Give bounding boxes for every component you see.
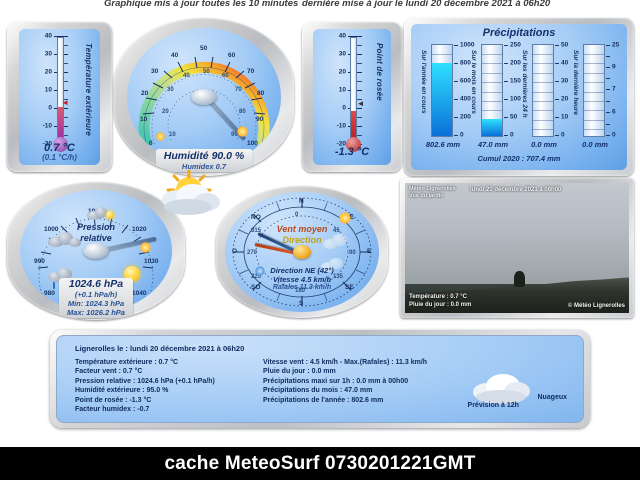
precipitation-face: Précipitations Sur l'année en cours 1000…: [411, 24, 627, 170]
temp-tick-label: 40: [45, 33, 52, 40]
last-update-text: dernière mise à jour le lundi 20 décembr…: [302, 0, 550, 9]
humidity-outer-tick: 30: [151, 68, 158, 75]
humidity-inner-tick: 20: [162, 109, 169, 115]
humidity-outer-tick: 10: [140, 116, 147, 123]
webcam-station-name: Météo Lignerolles: [409, 186, 456, 192]
temp-tick-label: 10: [45, 87, 52, 94]
humidity-gauge-panel[interactable]: 0 10 20 30 40 50 60 70 80 90 100 10 20 3…: [114, 18, 294, 176]
dew-tick-label: 0: [342, 105, 346, 112]
pressure-readout: 1024.6 hPa (+0.1 hPa/h) Min: 1024.3 hPa …: [59, 278, 133, 318]
precip-tick-label: 9: [612, 64, 616, 71]
precip-bar-value: 0.0 mm: [573, 140, 617, 149]
dewpoint-gauge-title: Point de rosée: [375, 43, 384, 101]
precip-tick-label: 10: [561, 114, 568, 121]
temperature-gauge-title: Température extérieure: [84, 43, 93, 136]
precip-fill: [482, 119, 502, 136]
thermometer-mercury: [58, 107, 63, 140]
forecast-label: Prévision à 12h: [468, 402, 519, 409]
webcam-rain-overlay: Pluie du jour : 0.0 mm: [409, 302, 471, 308]
precip-tick-label: 40: [561, 60, 568, 67]
temp-tick-label: 30: [45, 51, 52, 58]
precip-bar-label: Sur les dernières 24 h: [521, 50, 528, 118]
precip-tick-label: 25: [612, 42, 619, 49]
precip-bar-label: Sur la dernière heure: [572, 50, 579, 115]
webcam-view-name: Vue du jardin: [409, 193, 444, 199]
summary-line: Précipitations maxi sur 1h : 0.0 mm à 00…: [263, 377, 427, 386]
humidity-inner-tick: 50: [203, 69, 210, 75]
precip-fill: [432, 63, 452, 136]
summary-line: Facteur vent : 0.7 °C: [75, 367, 215, 376]
footer-brand: MeteoSurf: [225, 453, 320, 474]
precip-bar-value: 0.0 mm: [522, 140, 566, 149]
thermometer-tube: [57, 37, 64, 141]
wind-speed-value: Vitesse 4.5 km/h: [225, 275, 379, 284]
footer-code: 0730201221GMT: [325, 453, 475, 474]
wind-compass: N NE E SE S SO O NO 0 45 90 135 180 225 …: [225, 192, 379, 312]
summary-line: Pluie du jour : 0.0 mm: [263, 367, 427, 376]
humidity-value: Humidité 90.0 %: [164, 150, 245, 162]
precip-tick-label: 50: [561, 42, 568, 49]
precip-tick-label: 7: [612, 86, 616, 93]
summary-line: Humidité extérieure : 95.0 %: [75, 386, 215, 395]
humidity-gauge-face: 0 10 20 30 40 50 60 70 80 90 100 10 20 3…: [127, 28, 281, 166]
compass-label-s: S: [299, 300, 303, 307]
forecast-value: Nuageux: [537, 394, 567, 401]
precip-tube: [481, 44, 503, 137]
humidity-outer-tick: 40: [171, 52, 178, 59]
humidity-inner-tick: 60: [222, 73, 229, 79]
webcam-image[interactable]: Météo Lignerolles Vue du jardin lundi 20…: [405, 183, 629, 313]
dewpoint-gauge-panel[interactable]: Point de rosée 40 30 20 10 0 -10 -20: [302, 22, 402, 172]
precip-tick-label: 200: [460, 114, 471, 121]
thermometer-dewpoint: Point de rosée 40 30 20 10 0 -10 -20: [313, 29, 391, 165]
wind-direction-value: Direction NE (42°): [225, 266, 379, 275]
header-status: Graphique mis à jour toutes les 10 minut…: [0, 0, 640, 12]
precipitation-title: Précipitations: [411, 27, 627, 39]
precip-bar-label: Sur le mois en cours: [470, 50, 477, 114]
webcam-copyright: © Météo Lignerolles: [568, 303, 625, 309]
compass-label-no: NO: [251, 214, 261, 221]
precip-ticks: 50 40 30 20 10 0: [555, 44, 585, 137]
precip-ticks: 1000 800 600 400 200 0: [454, 44, 484, 137]
pressure-max: Max: 1026.2 hPa: [67, 308, 125, 317]
humidity-inner-tick: 10: [169, 132, 176, 138]
webcam-temp-overlay: Température : 0.7 °C: [409, 294, 467, 300]
dewpoint-mercury: [351, 111, 356, 140]
footer-text: cache MeteoSurf 0730201221GMT: [0, 447, 640, 480]
summary-line: Point de rosée : -1.3 °C: [75, 396, 215, 405]
summary-line: Précipitations de l'année : 802.6 mm: [263, 396, 427, 405]
wind-needle-hub: [293, 245, 311, 259]
dew-tick-label: 10: [339, 87, 346, 94]
wind-gauge-face: N NE E SE S SO O NO 0 45 90 135 180 225 …: [225, 192, 379, 312]
current-condition-icon: [155, 170, 223, 218]
humidity-outer-tick: 0: [149, 140, 153, 147]
weather-dashboard: Graphique mis à jour toutes les 10 minut…: [0, 0, 640, 480]
summary-line: Pression relative : 1024.6 hPa (+0.1 hPa…: [75, 377, 215, 386]
compass-label-o: O: [232, 248, 237, 255]
dew-tick-label: -10: [337, 123, 346, 130]
humidity-inner-tick: 40: [183, 73, 190, 79]
graph-update-text: Graphique mis à jour toutes les 10 minut…: [104, 0, 298, 9]
precip-tube: [583, 44, 605, 137]
precip-tick-label: 0: [510, 132, 514, 139]
summary-heading: Lignerolles le : lundi 20 décembre 2021 …: [75, 344, 244, 353]
humidity-inner-tick: 80: [239, 109, 246, 115]
dewpoint-gauge-face: Point de rosée 40 30 20 10 0 -10 -20: [313, 29, 391, 165]
pressure-tick-label: 1030: [144, 258, 158, 265]
pressure-value: 1024.6 hPa: [67, 278, 125, 290]
precip-ticks: 250 200 150 100 50 0: [504, 44, 534, 137]
summary-column-left: Température extérieure : 0.7 °C Facteur …: [75, 358, 215, 414]
footer-prefix: cache: [164, 453, 219, 474]
humidity-highlight-icon: [237, 126, 248, 137]
compass-label-n: N: [299, 198, 304, 205]
pressure-needle-hub: [83, 243, 109, 259]
compass-label-e: E: [367, 248, 371, 255]
humidity-outer-tick: 90: [256, 116, 263, 123]
dewpoint-tube: [350, 37, 357, 141]
precip-tick-label: 100: [510, 96, 521, 103]
dew-tick-label: 20: [339, 69, 346, 76]
precip-tick-label: 6: [612, 109, 616, 116]
humidity-outer-tick: 80: [257, 90, 264, 97]
pressure-tick-label: 990: [34, 258, 45, 265]
footer-bar: cache MeteoSurf 0730201221GMT: [0, 447, 640, 480]
pressure-tick-label: 1040: [132, 290, 146, 297]
precip-tube: [431, 44, 453, 137]
compass-deg-0: 0: [295, 212, 298, 218]
summary-inner: Lignerolles le : lundi 20 décembre 2021 …: [56, 335, 584, 423]
humidity-needle-hub: [191, 89, 217, 105]
dewpoint-value: -1.3 °C: [313, 146, 391, 158]
precip-bar-label: Sur l'année en cours: [420, 50, 427, 114]
humidity-readout: Humidité 90.0 % Humidex 0.7: [156, 149, 253, 172]
precipitation-panel[interactable]: Précipitations Sur l'année en cours 1000…: [404, 18, 634, 176]
precip-tick-label: 0: [612, 132, 616, 139]
precip-tick-label: 1000: [460, 42, 474, 49]
humidity-inner-tick: 70: [235, 87, 242, 93]
temp-tick-label: 0: [48, 105, 52, 112]
pressure-tick-label: 980: [44, 290, 55, 297]
summary-line: Température extérieure : 0.7 °C: [75, 358, 215, 367]
wind-gauge-panel[interactable]: N NE E SE S SO O NO 0 45 90 135 180 225 …: [216, 186, 388, 318]
precip-bar-value: 802.6 mm: [421, 140, 465, 149]
humidity-outer-tick: 70: [247, 68, 254, 75]
precip-tick-label: 20: [561, 96, 568, 103]
forecast-readout: Prévision à 12h Nuageux: [449, 394, 567, 412]
webcam-tree: [514, 271, 525, 287]
humidity-outer-tick: 50: [200, 45, 207, 52]
compass-deg-270: 270: [247, 250, 257, 256]
humidity-outer-tick: 60: [228, 52, 235, 59]
precip-tick-label: 30: [561, 78, 568, 85]
temperature-pointer-icon: ◄: [61, 99, 69, 107]
precip-ticks: 25 9 7 6 0: [606, 44, 627, 137]
summary-line: Facteur humidex : -0.7: [75, 405, 215, 414]
summary-line: Vitesse vent : 4.5 km/h - Max.(Rafales) …: [263, 358, 427, 367]
precip-tube: [532, 44, 554, 137]
summary-line: Précipitations du mois : 47.0 mm: [263, 386, 427, 395]
wind-title-line1: Vent moyen: [225, 224, 379, 235]
thermometer-outdoor: Température extérieure 40 30 20 10 0 -10…: [19, 29, 100, 165]
pressure-marker-icon: [140, 242, 151, 253]
temperature-gauge-face: Température extérieure 40 30 20 10 0 -10…: [19, 29, 100, 165]
webcam-panel[interactable]: Météo Lignerolles Vue du jardin lundi 20…: [400, 178, 634, 318]
humidity-dial: 0 10 20 30 40 50 60 70 80 90 100 10 20 3…: [127, 28, 281, 166]
compass-deg-90: 90: [349, 250, 356, 256]
precip-bar-value: 47.0 mm: [471, 140, 515, 149]
dew-tick-label: 30: [339, 51, 346, 58]
wind-gust-value: Rafales 11.3 km/h: [225, 284, 379, 291]
dew-tick-label: 40: [339, 33, 346, 40]
pressure-min: Min: 1024.3 hPa: [67, 299, 125, 308]
precipitation-footer: Cumul 2020 : 707.4 mm: [411, 154, 627, 163]
precip-tick-label: 50: [510, 114, 517, 121]
webcam-timestamp: lundi 20 décembre 2021 à 06h00: [470, 187, 561, 193]
precip-tick-label: 0: [561, 132, 565, 139]
summary-column-right: Vitesse vent : 4.5 km/h - Max.(Rafales) …: [263, 358, 427, 405]
dewpoint-pointer-icon: ◄: [357, 100, 365, 108]
humidity-outer-tick: 100: [247, 140, 258, 147]
temperature-gauge-panel[interactable]: Température extérieure 40 30 20 10 0 -10…: [7, 22, 112, 172]
precip-tick-label: 0: [460, 132, 464, 139]
pressure-trend: (+0.1 hPa/h): [67, 290, 125, 299]
precip-tick-label: 150: [510, 78, 521, 85]
summary-panel: Lignerolles le : lundi 20 décembre 2021 …: [50, 330, 590, 428]
temp-tick-label: -10: [43, 123, 52, 130]
temp-tick-label: 20: [45, 69, 52, 76]
humidity-outer-tick: 20: [141, 90, 148, 97]
precip-tick-label: 250: [510, 42, 521, 49]
humidity-inner-tick: 30: [167, 87, 174, 93]
pressure-title-line1: Pression: [20, 222, 172, 233]
humidity-lowmark-icon: [156, 132, 165, 141]
precip-tick-label: 200: [510, 60, 521, 67]
temperature-trend: (0.1 °C/h): [19, 153, 100, 162]
wind-gust-marker-icon: [339, 212, 351, 224]
